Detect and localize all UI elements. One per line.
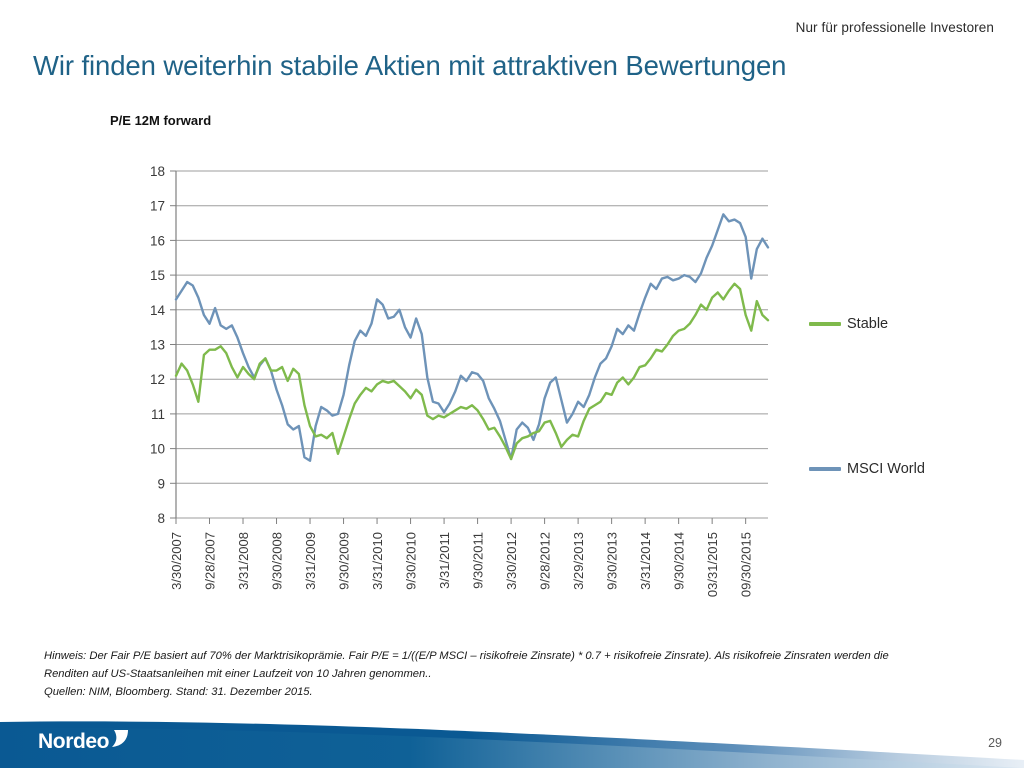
footnote-source: Quellen: NIM, Bloomberg. Stand: 31. Deze… [44,684,934,702]
y-tick-label: 9 [157,476,165,491]
legend-swatch-msci-world [809,467,841,471]
y-tick-label: 16 [150,233,165,248]
x-tick-label: 3/31/2010 [370,532,385,590]
x-tick-label: 3/31/2011 [437,532,452,589]
x-tick-label: 09/30/2015 [739,532,754,597]
y-tick-label: 8 [157,511,165,526]
x-tick-label: 3/31/2008 [236,532,251,590]
x-tick-label: 9/30/2009 [337,532,352,590]
y-tick-label: 11 [151,407,165,422]
x-tick-label: 9/30/2010 [404,532,419,590]
legend-item-stable: Stable [809,316,888,332]
x-tick-label: 9/30/2014 [672,532,687,590]
footnote-note: Hinweis: Der Fair P/E basiert auf 70% de… [44,648,934,683]
legend-label-msci-world: MSCI World [847,461,925,477]
series-line-msci-world [176,214,768,460]
x-tick-label: 3/30/2012 [504,532,519,590]
y-tick-label: 17 [150,199,165,214]
x-tick-label: 3/31/2009 [303,532,318,590]
x-tick-label: 03/31/2015 [705,532,720,597]
y-tick-label: 14 [150,303,166,318]
banner-swoosh: Nordeo [0,706,1024,768]
svg-text:Nordeo: Nordeo [38,730,109,753]
y-tick-label: 13 [150,338,165,353]
y-tick-label: 10 [150,442,165,457]
x-tick-label: 3/30/2007 [169,532,184,590]
x-tick-label: 3/31/2014 [638,532,653,590]
y-tick-label: 18 [150,164,165,179]
legend-swatch-stable [809,322,841,326]
x-tick-label: 9/30/2008 [270,532,285,590]
x-tick-label: 9/30/2013 [605,532,620,590]
page-number: 29 [988,736,1002,750]
x-tick-label: 9/28/2012 [538,532,553,590]
y-tick-label: 15 [150,268,165,283]
x-tick-label: 9/28/2007 [203,532,218,590]
brand-banner: Nordeo [0,706,1024,768]
x-tick-label: 3/29/2013 [571,532,586,590]
y-tick-label: 12 [150,372,165,387]
slide: Nur für professionelle Investoren Wir fi… [0,0,1024,768]
legend-item-msci-world: MSCI World [809,461,925,477]
x-tick-label: 9/30/2011 [471,532,486,589]
legend-label-stable: Stable [847,316,888,332]
